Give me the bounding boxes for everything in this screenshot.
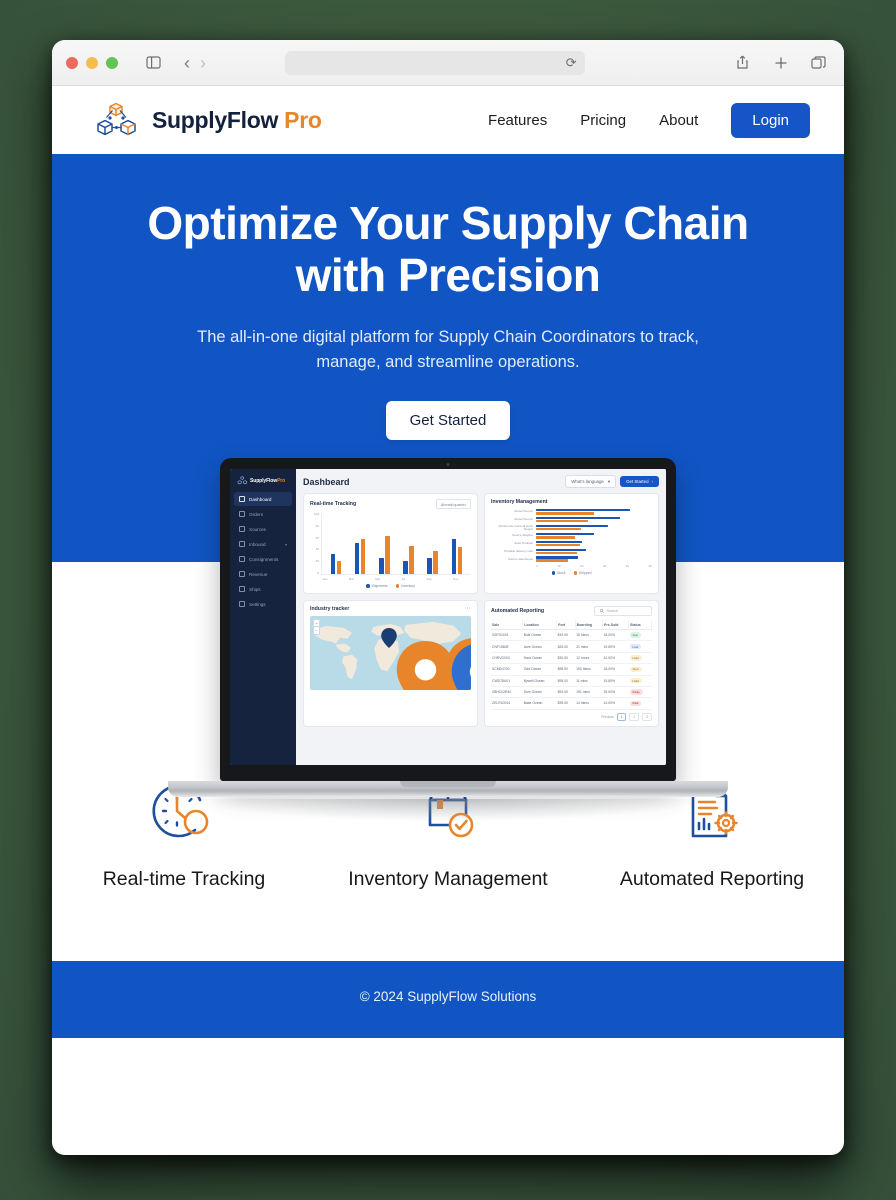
supplyflow-boxes-icon: [94, 101, 140, 139]
pagination-page-3[interactable]: 3: [642, 713, 652, 721]
table-cell-status: Hold: [629, 675, 652, 686]
legend-label: Inventory: [401, 584, 415, 588]
sidebar-item-label: Settings: [249, 602, 266, 607]
table-cell-port: $39.00: [557, 698, 575, 709]
mock-card-grid: Real-time Tracking Ahead/quarter 100 80 …: [303, 493, 659, 727]
bar: [536, 509, 630, 511]
bar-group: [403, 513, 414, 574]
more-options-icon[interactable]: ⋯: [465, 607, 472, 611]
table-column-header[interactable]: Sale: [491, 620, 523, 630]
legend-item: Shipped: [574, 571, 592, 575]
bar-group: [355, 513, 366, 574]
table-cell-boarding: 12 hours: [575, 652, 602, 663]
table-header-row: SaleLocationPortBoardingPre-SoldStatus: [491, 620, 652, 630]
bar: [331, 554, 336, 574]
table-cell-id: ZELR10014: [491, 698, 523, 709]
sidebar-item-sources[interactable]: Sources: [234, 522, 292, 536]
legend-item: Shipments: [366, 584, 388, 588]
mock-topbar-actions: What's language▾ Get Started›: [565, 475, 659, 488]
sidebar-item-dashboard[interactable]: Dashboard: [234, 492, 292, 506]
card-header: Real-time Tracking Ahead/quarter: [310, 499, 471, 509]
table-cell-location: Bulk Ocean: [523, 630, 557, 641]
brand-name: SupplyFlow Pro: [152, 107, 322, 134]
address-bar[interactable]: ⟳: [285, 51, 585, 75]
back-icon[interactable]: ‹: [184, 54, 190, 72]
bar: [536, 512, 594, 514]
table-cell-id: CWD78U01: [491, 675, 523, 686]
minimize-window-button[interactable]: [86, 57, 98, 69]
laptop-shadow: [198, 799, 698, 821]
x-tick: 10: [557, 564, 560, 568]
nav-link-features[interactable]: Features: [488, 112, 547, 129]
desktop-background: ‹ › ⟳: [0, 0, 896, 1200]
table-cell-port: $95.00: [557, 664, 575, 675]
status-badge: Hold: [630, 678, 642, 684]
table-row[interactable]: ZELR10014Base Ocean$39.0014 hkms14.00%Ri…: [491, 698, 652, 709]
card-header: Industry tracker ⋯: [310, 606, 471, 612]
nav-link-about[interactable]: About: [659, 112, 698, 129]
search-placeholder: Search: [607, 609, 618, 613]
table-cell-boarding: 11 mins: [575, 675, 602, 686]
y-tick: 40: [316, 548, 319, 551]
y-tick: 100: [314, 513, 319, 516]
sidebar-item-orders[interactable]: Orders: [234, 507, 292, 521]
chart-range-label: Ahead/quarter: [441, 502, 466, 507]
table-cell-id: CNF1560E: [491, 641, 523, 652]
bar-group: [379, 513, 390, 574]
x-tick: Mai: [375, 577, 380, 581]
table-row[interactable]: SSFD1001Bulk Ocean$19.0018 hkms18.00%Ava: [491, 630, 652, 641]
table-pagination[interactable]: Previous 1 2 3: [491, 713, 652, 721]
y-tick: Warehouse General stock Report: [491, 525, 533, 531]
feature-label: Automated Reporting: [597, 868, 827, 891]
consignments-icon: [239, 556, 245, 562]
sidebar-item-label: Revenue: [249, 572, 267, 577]
status-badge: Low: [630, 644, 642, 650]
table-cell-location: Sum Ocean: [523, 686, 557, 697]
x-tick: Sep: [426, 577, 431, 581]
world-map[interactable]: + −: [310, 616, 471, 690]
table-cell-boarding: 191 mins: [575, 686, 602, 697]
bar: [536, 517, 620, 519]
table-row[interactable]: CHRVD003Hard Ocean$30.0012 hours42.00%Ho…: [491, 652, 652, 663]
hero-title-line-2: with Precision: [296, 249, 601, 301]
sidebar-item-inbound[interactable]: Inbound▾: [234, 537, 292, 551]
table-cell-location: Hard Ocean: [523, 652, 557, 663]
table-row[interactable]: CWD78U01Bywell Ocean$95.0011 mins19.80%H…: [491, 675, 652, 686]
card-title: Real-time Tracking: [310, 501, 356, 507]
table-column-header[interactable]: Status: [629, 620, 652, 630]
sidebar-item-consignments[interactable]: Consignments: [234, 552, 292, 566]
chevron-down-icon: ▾: [608, 479, 610, 485]
x-tick: 0: [536, 564, 538, 568]
pagination-page-1[interactable]: 1: [617, 713, 627, 721]
sidebar-item-settings[interactable]: Settings: [234, 597, 292, 611]
table-cell-presold: 19.80%: [603, 675, 629, 686]
maximize-window-button[interactable]: [106, 57, 118, 69]
bar: [458, 547, 463, 574]
card-title: Automated Reporting: [491, 608, 544, 614]
tab-overview-icon[interactable]: [808, 52, 830, 74]
x-tick: Nov: [453, 577, 458, 581]
bar: [536, 541, 582, 543]
dashboard-title: Dashbeard: [303, 477, 350, 487]
bar: [536, 556, 578, 558]
bar: [536, 520, 588, 522]
bar: [536, 536, 575, 538]
bar: [536, 552, 577, 554]
card-title: Industry tracker: [310, 606, 349, 612]
copyright-text: © 2024 SupplyFlow Solutions: [360, 989, 537, 1004]
table-column-header[interactable]: Pre-Sold: [603, 620, 629, 630]
y-tick: 20: [316, 560, 319, 563]
table-column-header[interactable]: Port: [557, 620, 575, 630]
realtime-tracking-card: Real-time Tracking Ahead/quarter 100 80 …: [303, 493, 478, 594]
table-search-input[interactable]: Search: [594, 606, 652, 616]
laptop-screen-bezel: SupplyFlowPro Dashboard Orders Sources I…: [220, 458, 676, 781]
report-table: SaleLocationPortBoardingPre-SoldStatus S…: [491, 620, 652, 710]
browser-window: ‹ › ⟳: [52, 40, 844, 1155]
revenue-icon: [239, 571, 245, 577]
site-footer: © 2024 SupplyFlow Solutions: [52, 961, 844, 1038]
reload-icon[interactable]: ⟳: [566, 55, 577, 71]
bar-row: Source warehouse: [491, 556, 652, 562]
legend-item: Stock: [552, 571, 566, 575]
mock-get-started-label: Get Started: [626, 479, 648, 484]
dashboard-icon: [239, 496, 245, 502]
share-icon[interactable]: [732, 52, 754, 74]
y-tick: Diesel Source: [491, 518, 533, 521]
bar-group: [331, 513, 342, 574]
table-cell-presold: 18.00%: [603, 630, 629, 641]
x-tick: 40: [626, 564, 629, 568]
bar: [385, 536, 390, 574]
bar: [452, 539, 457, 574]
bar-row: Source Wayline: [491, 533, 652, 539]
bar: [427, 558, 432, 574]
map-pin-marker[interactable]: [400, 643, 471, 690]
mock-sidebar: SupplyFlowPro Dashboard Orders Sources I…: [230, 469, 296, 765]
table-cell-presold: 18.00%: [603, 664, 629, 675]
y-tick: Portable delivery note: [491, 550, 533, 553]
table-cell-location: Acre Ocean: [523, 641, 557, 652]
table-cell-status: Risky: [629, 686, 652, 697]
table-cell-id: SSFD1001: [491, 630, 523, 641]
dashboard-preview: SupplyFlowPro Dashboard Orders Sources I…: [230, 469, 666, 765]
table-cell-status: Risk: [629, 698, 652, 709]
zoom-out-button[interactable]: −: [314, 627, 319, 634]
navigation-arrows[interactable]: ‹ ›: [184, 54, 206, 72]
inventory-management-card: Inventory Management Diesel SourceDiesel…: [484, 493, 659, 594]
pagination-prev[interactable]: Previous: [601, 715, 613, 719]
mock-brand-logo: SupplyFlowPro: [234, 474, 292, 492]
laptop-base: [168, 781, 728, 797]
bar-row: Diesel Source: [491, 509, 652, 515]
chevron-down-icon: ▾: [285, 542, 287, 547]
card-title: Inventory Management: [491, 499, 548, 505]
legend-label: Shipped: [579, 571, 591, 575]
brand-primary: SupplyFlow: [152, 107, 278, 133]
bar: [536, 559, 568, 561]
plot-area: [321, 513, 471, 575]
sidebar-item-label: Inbound: [249, 542, 266, 547]
y-axis: 100 80 60 40 20 0: [310, 513, 321, 575]
y-tick: Source Wayline: [491, 534, 533, 537]
chart-legend: Stock Shipped: [491, 571, 652, 575]
brand-logo[interactable]: SupplyFlow Pro: [94, 101, 322, 139]
table-cell-status: Ava: [629, 630, 652, 641]
bar-row: Judio Podcast: [491, 541, 652, 547]
y-tick: 0: [317, 572, 319, 575]
inbound-icon: [239, 541, 245, 547]
sidebar-icon[interactable]: [142, 52, 164, 74]
table-cell-status: Hold: [629, 652, 652, 663]
zoom-in-button[interactable]: +: [314, 620, 319, 627]
legend-item: Inventory: [396, 584, 415, 588]
sidebar-item-label: Dashboard: [249, 497, 271, 502]
y-tick: Judio Podcast: [491, 542, 533, 545]
sidebar-item-ships[interactable]: Ships: [234, 582, 292, 596]
bar: [536, 525, 608, 527]
x-tick: Jan: [323, 577, 328, 581]
feature-label: Real-time Tracking: [69, 868, 299, 891]
browser-toolbar: ‹ › ⟳: [52, 40, 844, 86]
sidebar-item-label: Consignments: [249, 557, 278, 562]
table-cell-status: Alert: [629, 664, 652, 675]
status-badge: Ava: [630, 632, 641, 638]
main-nav: Features Pricing About Login: [488, 103, 810, 138]
bar-group: [427, 513, 438, 574]
page-title: Optimize Your Supply Chain with Precisio…: [52, 198, 844, 301]
y-tick: Source warehouse: [491, 558, 533, 561]
chart-legend: Shipments Inventory: [310, 584, 471, 588]
language-select[interactable]: What's language▾: [565, 475, 616, 488]
close-window-button[interactable]: [66, 57, 78, 69]
hero-subtitle-line-1: The all-in-one digital platform for Supp…: [197, 328, 654, 346]
hero-content: Optimize Your Supply Chain with Precisio…: [52, 154, 844, 440]
gear-icon: [239, 601, 245, 607]
map-zoom-controls[interactable]: + −: [313, 619, 320, 635]
table-cell-location: Bywell Ocean: [523, 675, 557, 686]
legend-label: Stock: [557, 571, 565, 575]
y-tick: 60: [316, 537, 319, 540]
x-tick: 20: [580, 564, 583, 568]
industry-tracker-card: Industry tracker ⋯: [303, 600, 478, 727]
table-cell-presold: 14.00%: [603, 698, 629, 709]
search-icon: [600, 609, 604, 613]
x-tick: Jul: [401, 577, 405, 581]
mock-main-area: Dashbeard What's language▾ Get Started› …: [296, 469, 666, 765]
bar: [536, 533, 594, 535]
legend-label: Shipments: [372, 584, 388, 588]
mock-brand-name: SupplyFlowPro: [250, 478, 285, 484]
sources-icon: [239, 526, 245, 532]
mock-topbar: Dashbeard What's language▾ Get Started›: [303, 475, 659, 488]
x-tick: Mar: [349, 577, 354, 581]
table-row[interactable]: CNF1560EAcre Ocean$25.0021 mins19.80%Low: [491, 641, 652, 652]
table-cell-port: $25.00: [557, 641, 575, 652]
table-cell-boarding: 21 mins: [575, 641, 602, 652]
table-cell-presold: 19.80%: [603, 641, 629, 652]
table-cell-id: SCMD4700: [491, 664, 523, 675]
x-tick: 30: [603, 564, 606, 568]
bar: [536, 549, 586, 551]
chevron-right-icon: ›: [652, 479, 653, 484]
pagination-page-2[interactable]: 2: [629, 713, 639, 721]
bar-chart: 100 80 60 40 20 0: [310, 513, 471, 575]
bar: [536, 544, 580, 546]
x-axis: JanMarMaiJulSepNov: [310, 575, 471, 581]
card-header: Automated Reporting Search: [491, 606, 652, 616]
bar: [337, 561, 342, 574]
hero-title-line-1: Optimize Your Supply Chain: [147, 197, 748, 249]
table-cell-presold: 42.00%: [603, 652, 629, 663]
x-tick: 50: [649, 564, 652, 568]
sidebar-item-label: Sources: [249, 527, 266, 532]
status-badge: Alert: [630, 667, 642, 673]
table-cell-boarding: 14 hkms: [575, 698, 602, 709]
table-column-header[interactable]: Location: [523, 620, 557, 630]
y-tick: Diesel Source: [491, 510, 533, 513]
table-cell-status: Low: [629, 641, 652, 652]
bar: [409, 546, 414, 574]
sidebar-item-revenue[interactable]: Revenue: [234, 567, 292, 581]
status-badge: Risky: [630, 689, 643, 695]
mock-brand-accent: Pro: [277, 478, 285, 484]
bar: [361, 539, 366, 574]
language-select-label: What's language: [571, 479, 604, 484]
table-row[interactable]: ZBHC02R40Sum Ocean$92.00191 mins25.00%Ri…: [491, 686, 652, 697]
chart-range-select[interactable]: Ahead/quarter: [436, 499, 471, 509]
bar: [355, 543, 360, 574]
mock-get-started-button[interactable]: Get Started›: [620, 476, 659, 487]
map-cluster-marker[interactable]: [381, 628, 397, 648]
bar-row: Warehouse General stock Report: [491, 525, 652, 531]
bar-row: Diesel Source: [491, 517, 652, 523]
table-cell-port: $92.00: [557, 686, 575, 697]
table-cell-presold: 25.00%: [603, 686, 629, 697]
webcam-icon: [447, 463, 450, 466]
new-tab-icon[interactable]: [770, 52, 792, 74]
bar-group: [452, 513, 463, 574]
nav-link-pricing[interactable]: Pricing: [580, 112, 626, 129]
mock-brand-primary: SupplyFlow: [250, 478, 277, 484]
bar-row: Portable delivery note: [491, 549, 652, 555]
orders-icon: [239, 511, 245, 517]
status-badge: Hold: [630, 655, 642, 661]
status-badge: Risk: [630, 701, 642, 707]
table-cell-boarding: 18 hkms: [575, 630, 602, 641]
table-cell-port: $19.00: [557, 630, 575, 641]
table-cell-port: $30.00: [557, 652, 575, 663]
bar: [403, 561, 408, 574]
x-axis: 01020304050: [536, 564, 652, 568]
hero-subtitle: The all-in-one digital platform for Supp…: [188, 325, 708, 375]
bar: [433, 551, 438, 574]
sidebar-item-label: Orders: [249, 512, 263, 517]
bar: [536, 528, 581, 530]
horizontal-bar-chart: Diesel SourceDiesel SourceWarehouse Gene…: [491, 509, 652, 562]
get-started-button[interactable]: Get Started: [386, 401, 511, 440]
login-button[interactable]: Login: [731, 103, 810, 138]
laptop-mockup: SupplyFlowPro Dashboard Orders Sources I…: [168, 458, 728, 821]
bar: [379, 558, 384, 574]
window-controls[interactable]: [66, 57, 118, 69]
table-cell-port: $95.00: [557, 675, 575, 686]
forward-icon[interactable]: ›: [200, 54, 206, 72]
card-header: Inventory Management: [491, 499, 652, 505]
brand-accent: Pro: [284, 107, 321, 133]
table-cell-id: CHRVD003: [491, 652, 523, 663]
toolbar-actions: [732, 52, 830, 74]
table-cell-id: ZBHC02R40: [491, 686, 523, 697]
table-row[interactable]: SCMD4700Odd Ocean$95.00190 hkms18.00%Ale…: [491, 664, 652, 675]
table-cell-location: Base Ocean: [523, 698, 557, 709]
table-cell-boarding: 190 hkms: [575, 664, 602, 675]
automated-reporting-card: Automated Reporting Search SaleLocationP…: [484, 600, 659, 727]
ships-icon: [239, 586, 245, 592]
site-header: SupplyFlow Pro Features Pricing About Lo…: [52, 86, 844, 154]
feature-label: Inventory Management: [333, 868, 563, 891]
sidebar-item-label: Ships: [249, 587, 261, 592]
y-tick: 80: [316, 525, 319, 528]
table-column-header[interactable]: Boarding: [575, 620, 602, 630]
table-cell-location: Odd Ocean: [523, 664, 557, 675]
